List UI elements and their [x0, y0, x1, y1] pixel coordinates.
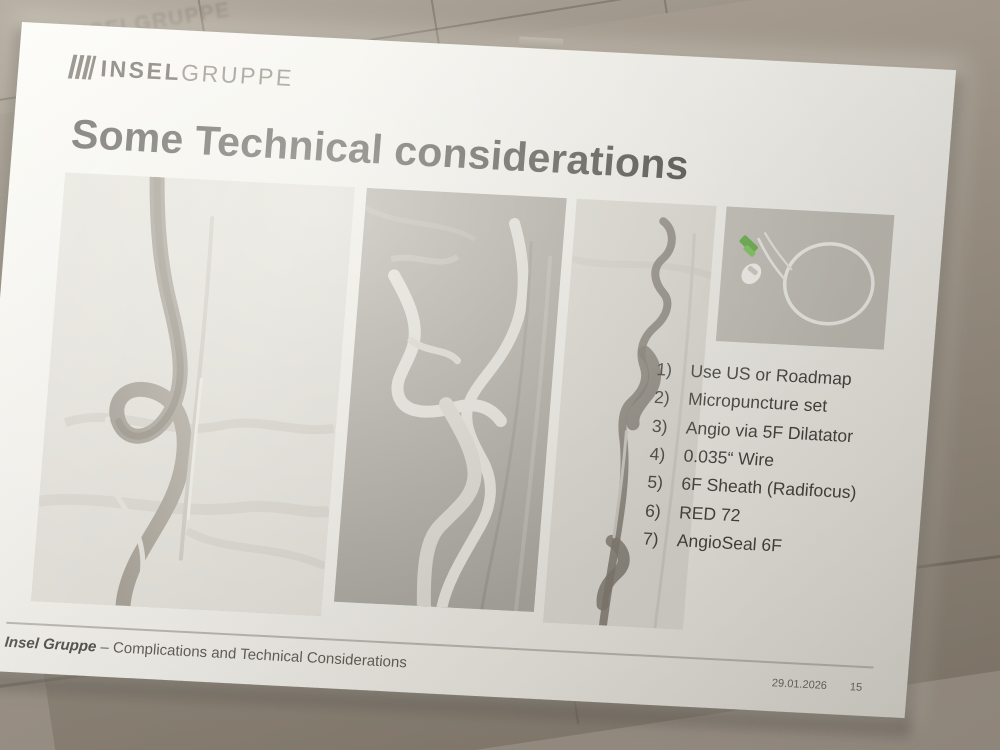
inselgruppe-logo-mark-icon	[68, 55, 97, 80]
logo-primary: INSEL	[100, 55, 183, 85]
logo-secondary: GRUPPE	[180, 59, 295, 91]
image-panel-angiogram-1	[31, 172, 355, 616]
slide-logo: INSELGRUPPE	[70, 55, 295, 90]
footer-date: 29.01.2026	[771, 677, 827, 692]
angiogram-graphic-2	[334, 188, 567, 612]
logo-wordmark: INSELGRUPPE	[100, 57, 295, 90]
list-item-number: 3)	[651, 412, 687, 442]
list-item-number: 6)	[644, 496, 680, 526]
screen-surface: INSELGRUPPE Some Technical consideration…	[0, 22, 956, 718]
presentation-slide: INSELGRUPPE Some Technical consideration…	[0, 22, 956, 718]
list-item-text: 0.035“ Wire	[683, 442, 776, 475]
list-item-number: 1)	[655, 355, 691, 385]
technical-steps-list: 1) Use US or Roadmap 2) Micropuncture se…	[642, 355, 932, 567]
list-item-number: 2)	[653, 383, 689, 413]
footer-brand: Insel Gruppe	[4, 634, 97, 656]
image-panel-guidewire-photo	[716, 206, 895, 349]
footer-page-number: 15	[849, 681, 862, 694]
projection-screen: INSELGRUPPE Some Technical consideration…	[0, 22, 956, 723]
angiogram-graphic-1	[31, 172, 355, 616]
list-item-number: 7)	[642, 525, 678, 555]
footer-subject: Complications and Technical Consideratio…	[112, 639, 407, 671]
room-photo: INSELGRUPPE INSELGRUPPE Some Technical c	[0, 0, 1000, 750]
image-panel-angiogram-2	[334, 188, 567, 612]
list-item-number: 5)	[646, 468, 682, 498]
list-item-text: AngioSeal 6F	[676, 526, 783, 560]
footer-separator: –	[96, 638, 114, 656]
guidewire-graphic	[716, 206, 895, 349]
list-item-number: 4)	[649, 440, 685, 470]
list-item-text: RED 72	[678, 498, 741, 529]
